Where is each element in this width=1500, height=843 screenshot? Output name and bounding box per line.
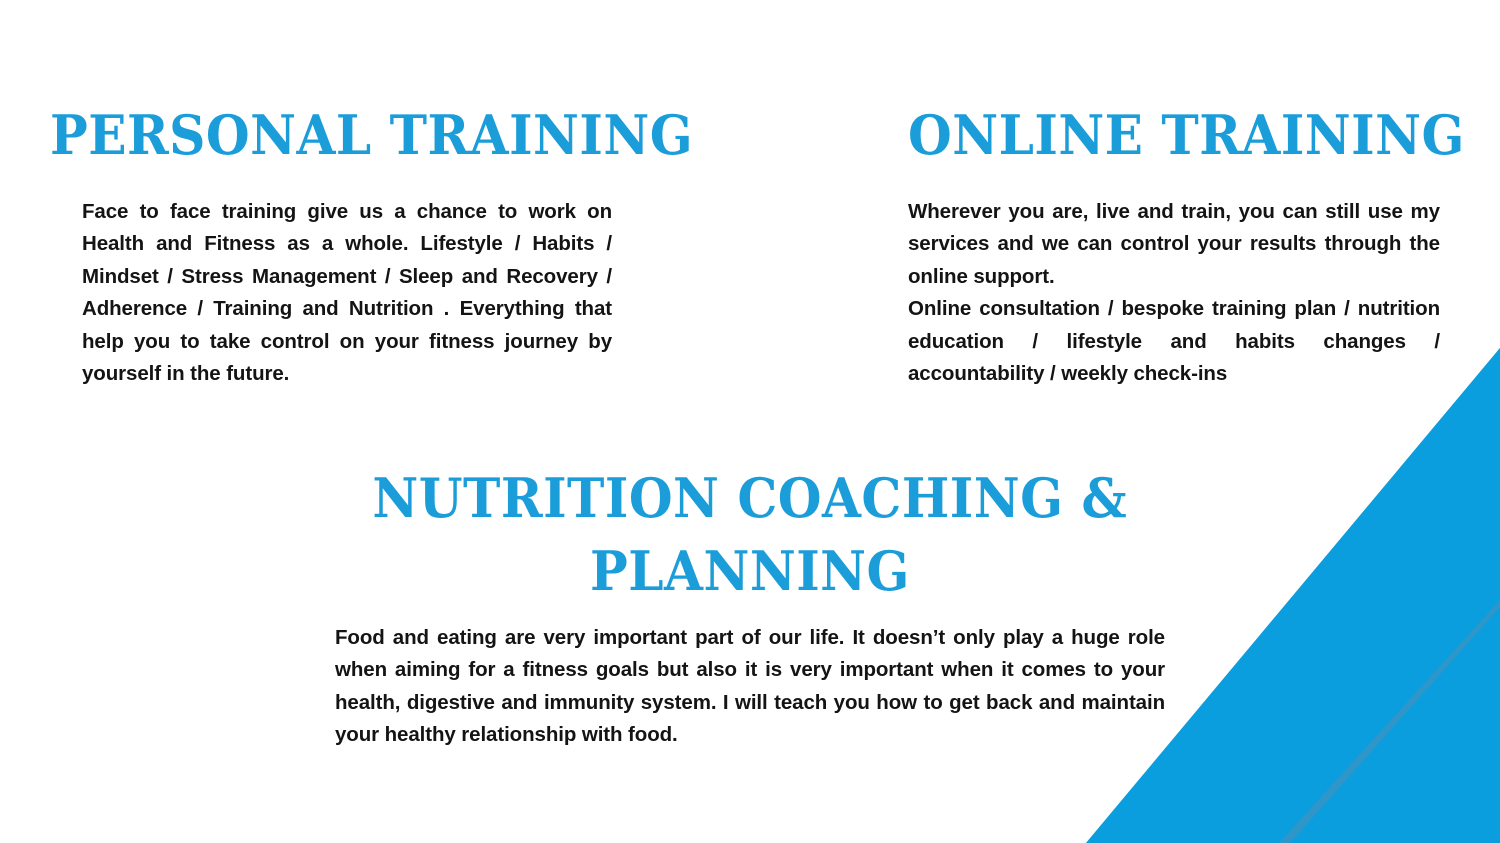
heading-personal-training: PERSONAL TRAINING <box>50 108 693 162</box>
paragraph-nutrition-coaching: Food and eating are very important part … <box>335 622 1165 752</box>
body-online-training: Wherever you are, live and train, you ca… <box>908 196 1440 390</box>
heading-online-training: ONLINE TRAINING <box>908 108 1465 162</box>
slide-canvas: PERSONAL TRAINING Face to face training … <box>0 0 1500 843</box>
paragraph-online-training-1: Wherever you are, live and train, you ca… <box>908 196 1440 293</box>
paragraph-personal-training: Face to face training give us a chance t… <box>82 196 612 390</box>
paragraph-online-training-2: Online consultation / bespoke training p… <box>908 293 1440 390</box>
heading-nutrition-coaching-line-1-text: NUTRITION COACHING & <box>373 462 1128 535</box>
heading-nutrition-coaching-line-2-text: PLANNING <box>590 535 910 608</box>
thin-diagonal-stripe <box>1279 600 1500 843</box>
heading-nutrition-coaching-line-2: PLANNING <box>0 535 1500 608</box>
heading-nutrition-coaching: NUTRITION COACHING & PLANNING <box>0 462 1500 608</box>
body-personal-training: Face to face training give us a chance t… <box>82 196 612 390</box>
body-nutrition-coaching: Food and eating are very important part … <box>335 622 1165 752</box>
heading-nutrition-coaching-line-1: NUTRITION COACHING & <box>0 462 1500 535</box>
